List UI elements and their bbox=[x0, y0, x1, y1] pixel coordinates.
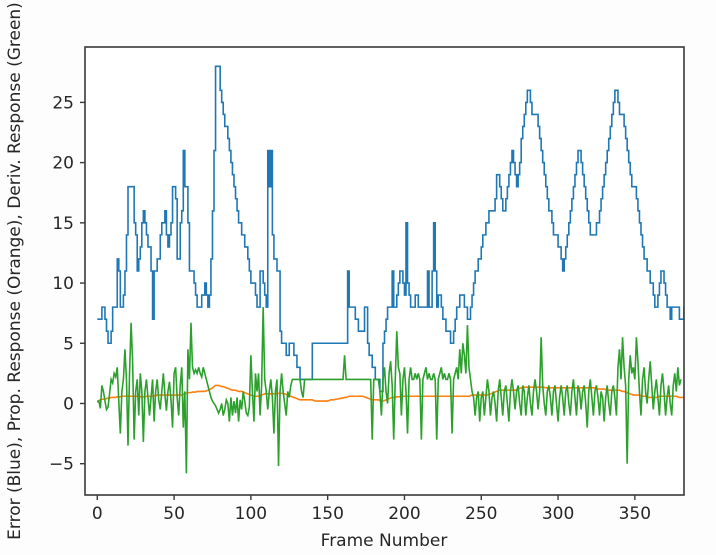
x-tick-label: 150 bbox=[311, 504, 343, 524]
y-tick-label: 10 bbox=[52, 274, 74, 294]
x-tick-label: 100 bbox=[235, 504, 267, 524]
y-tick-label: 20 bbox=[52, 154, 74, 174]
x-tick-label: 300 bbox=[542, 504, 574, 524]
y-axis-label: Error (Blue), Prop. Response (Orange), D… bbox=[5, 2, 25, 540]
x-tick-label: 250 bbox=[465, 504, 497, 524]
x-axis-label: Frame Number bbox=[321, 531, 448, 551]
y-tick-label: 5 bbox=[63, 334, 74, 354]
axes-background bbox=[85, 47, 684, 495]
x-tick-label: 50 bbox=[163, 504, 185, 524]
y-tick-label: 15 bbox=[52, 214, 74, 234]
x-tick-label: 0 bbox=[92, 504, 103, 524]
y-tick-label: 0 bbox=[63, 394, 74, 414]
x-tick-label: 350 bbox=[619, 504, 651, 524]
x-tick-label: 200 bbox=[388, 504, 420, 524]
y-tick-label: 25 bbox=[52, 93, 74, 113]
y-tick-label: −5 bbox=[49, 455, 74, 475]
chart-canvas: 050100150200250300350 −50510152025 Frame… bbox=[0, 0, 716, 555]
matplotlib-figure: 050100150200250300350 −50510152025 Frame… bbox=[0, 0, 716, 555]
